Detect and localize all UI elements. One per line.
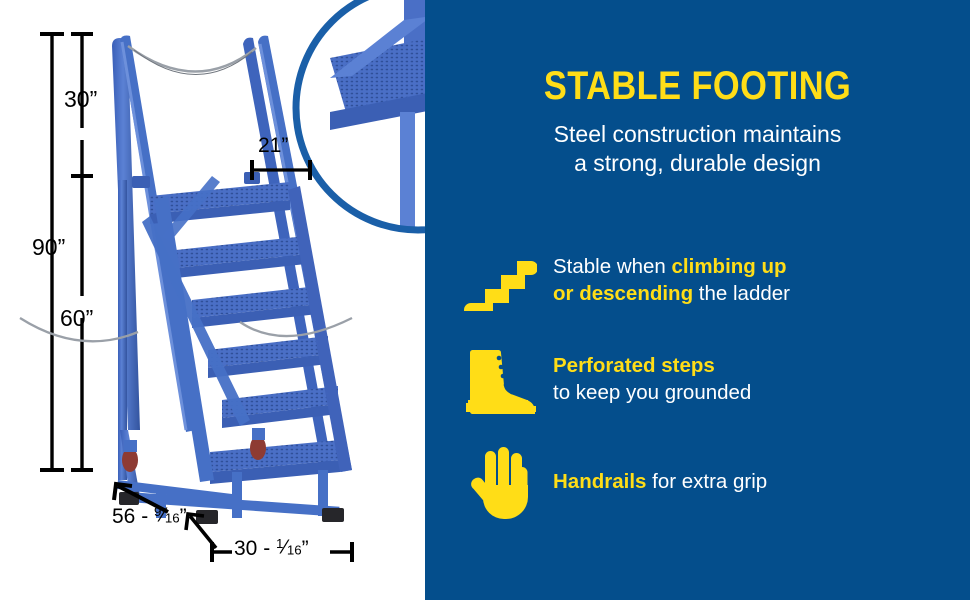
page-title: STABLE FOOTING xyxy=(463,66,932,106)
feature-item-handrails: Handrails for extra grip xyxy=(445,440,965,524)
dimension-label-base-width: 30 - 1⁄16” xyxy=(234,537,309,561)
page-subtitle: Steel construction maintains a strong, d… xyxy=(455,120,940,179)
subtitle-line-2: a strong, durable design xyxy=(455,149,940,178)
dimension-label-base-length: 56 - 9⁄16” xyxy=(112,505,187,529)
feature-1-plain-2: the ladder xyxy=(693,282,790,305)
infographic-root: 90” 30” 60” 21” 56 - 9⁄16” 30 - 1⁄16” ST… xyxy=(0,0,970,600)
feature-2-plain-2: to keep you grounded xyxy=(553,381,751,404)
step-closeup-inset xyxy=(296,0,425,242)
stairs-icon xyxy=(445,249,553,311)
feature-2-bold-1: Perforated steps xyxy=(553,354,715,377)
feature-text-handrails: Handrails for extra grip xyxy=(553,468,965,495)
dimension-label-step-width: 21” xyxy=(258,134,288,158)
dimension-label-top-step-height: 60” xyxy=(60,305,93,332)
dimension-label-overall-height: 90” xyxy=(32,234,65,261)
feature-1-bold-1: climbing up xyxy=(672,255,787,278)
feature-item-perforated-steps: Perforated steps to keep you grounded xyxy=(445,336,965,422)
feature-1-plain-1: Stable when xyxy=(553,255,672,278)
feature-panel: STABLE FOOTING Steel construction mainta… xyxy=(425,0,970,600)
dimension-label-handrail-height: 30” xyxy=(64,86,97,113)
feature-1-bold-2: or descending xyxy=(553,282,693,305)
dimension-21 xyxy=(252,160,310,180)
boot-icon xyxy=(445,344,553,414)
product-illustration-panel: 90” 30” 60” 21” 56 - 9⁄16” 30 - 1⁄16” xyxy=(0,0,425,600)
feature-item-climbing: Stable when climbing up or descending th… xyxy=(445,240,965,320)
feature-text-climbing: Stable when climbing up or descending th… xyxy=(553,253,965,307)
feature-text-perforated-steps: Perforated steps to keep you grounded xyxy=(553,352,965,406)
feature-3-plain-2: for extra grip xyxy=(646,470,767,493)
hand-icon xyxy=(445,445,553,519)
subtitle-line-1: Steel construction maintains xyxy=(455,120,940,149)
feature-3-bold-1: Handrails xyxy=(553,470,646,493)
